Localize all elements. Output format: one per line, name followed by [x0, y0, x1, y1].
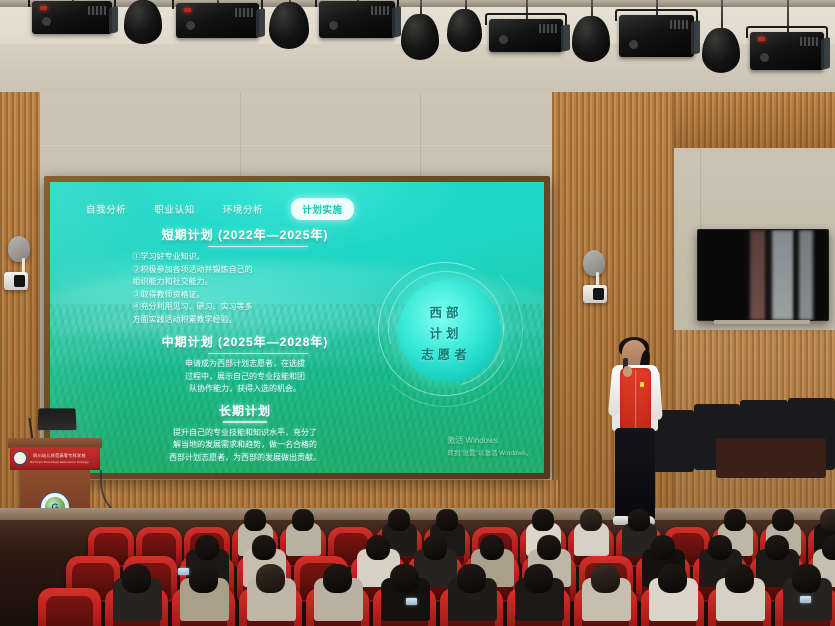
audience-member-head: [792, 564, 821, 593]
audience-member-head: [436, 509, 457, 531]
barn-door: [109, 6, 118, 34]
badge-line-2: 计划: [429, 323, 462, 342]
plan-line: ③取得教师资格证。: [133, 289, 358, 302]
short-term-plan-heading: 短期计划 (2022年—2025年): [162, 226, 329, 246]
audience-member-head: [122, 564, 151, 593]
light-knob: [629, 40, 638, 49]
audience-member-head: [457, 564, 486, 593]
plan-line: ④充分利用见习、研习、实习等多: [133, 301, 358, 314]
audience-member-head: [244, 509, 265, 531]
audience-member-head: [388, 509, 409, 531]
volunteer-badge-graphic: 西部 计划 志愿者: [376, 262, 516, 402]
presenter: [604, 340, 670, 532]
audience-member-head: [822, 535, 835, 560]
plan-line: ②积极参加各项活动并锻炼自己的: [133, 264, 358, 277]
wall-speaker-right: [583, 250, 605, 276]
college-name-cn: 四川幼儿师范高等专科学校: [30, 453, 89, 459]
vest-opening: [635, 370, 637, 428]
plan-line: 过程中，展示自己的专业技能和团: [143, 371, 348, 384]
light-knob: [329, 21, 338, 30]
audience-member-head: [658, 564, 687, 593]
stage-light-par: [572, 16, 610, 62]
light-hanger: [420, 0, 422, 14]
light-vent: [235, 8, 253, 17]
audience-member-head: [323, 564, 352, 593]
light-vent: [88, 6, 106, 15]
audience-member-head: [708, 535, 733, 560]
tv-wall-bracket: [714, 320, 810, 324]
audience-phone-screen: [800, 596, 811, 603]
tab-career-cognition[interactable]: 职业认知: [154, 202, 194, 216]
long-term-plan-heading: 长期计划: [219, 402, 271, 422]
audience-member-head: [195, 535, 220, 560]
barn-door: [561, 24, 570, 52]
light-knob: [499, 35, 508, 44]
stage-light-par: [447, 9, 482, 53]
audience-member-head: [480, 535, 505, 560]
audience-member-head: [725, 564, 754, 593]
audience-member-head: [189, 564, 218, 593]
long-term-plan-body: 提升自己的专业技能和知识水平，充分了 解当地的发展需求和趋势，做一名合格的 西部…: [126, 427, 364, 465]
plan-line: ①学习好专业知识。: [133, 251, 358, 264]
audience-phone-screen: [406, 598, 417, 605]
badge-line-1: 西部: [429, 302, 462, 321]
presentation-screen[interactable]: 自我分析 职业认知 环境分析 计划实施 短期计划 (2022年—2025年) ①…: [50, 182, 544, 473]
security-camera-left: [4, 272, 28, 290]
plan-line: 申请成为西部计划志愿者，在选拔: [143, 358, 348, 371]
wood-panel-upper-right: [674, 92, 835, 148]
wall-seam: [240, 92, 241, 176]
light-led-icon: [40, 6, 47, 10]
stage-light-par: [401, 14, 438, 60]
audience-member-head: [765, 535, 790, 560]
college-logo-icon: [13, 451, 27, 465]
stage-light: [489, 19, 564, 52]
wall-seam: [420, 92, 421, 176]
tv-reflection: [750, 230, 766, 320]
audience-member-head: [820, 509, 835, 531]
badge-line-3: 志愿者: [421, 344, 471, 363]
stage-light-par: [702, 28, 739, 73]
watermark-title: 激活 Windows: [447, 435, 532, 446]
stage-light: [32, 1, 112, 34]
auditorium-seat[interactable]: [38, 588, 101, 626]
audience-member-head: [524, 564, 553, 593]
security-camera-right: [583, 285, 607, 303]
watermark-subtitle: 转到"设置"以激活 Windows。: [447, 447, 532, 457]
camera-lens-icon: [593, 288, 604, 300]
wall-seam: [40, 145, 552, 146]
light-vent: [800, 37, 818, 46]
light-vent: [371, 6, 389, 15]
light-led-icon: [758, 37, 765, 41]
barn-door: [691, 20, 700, 55]
short-term-plan-body: ①学习好专业知识。 ②积极参加各项活动并锻炼自己的 组织能力和社交能力。 ③取得…: [133, 251, 358, 326]
podium-laptop[interactable]: [38, 408, 77, 430]
tab-environment-analysis[interactable]: 环境分析: [223, 202, 263, 216]
audience-member-head: [651, 535, 676, 560]
mid-term-plan-body: 申请成为西部计划志愿者，在选拔 过程中，展示自己的专业技能和团 队协作能力，获得…: [143, 358, 348, 396]
stage-light-par: [124, 0, 162, 44]
vest-badge-icon: [640, 382, 644, 387]
stage-light: [176, 3, 259, 38]
light-knob: [186, 21, 195, 30]
camera-lens-icon: [14, 275, 25, 287]
windows-activation-watermark: 激活 Windows 转到"设置"以激活 Windows。: [447, 435, 532, 457]
audience-member-head: [256, 564, 285, 593]
stage-table: [716, 438, 826, 478]
tv-reflection: [799, 230, 813, 320]
barn-door: [821, 37, 830, 70]
light-vent: [539, 24, 557, 33]
light-knob: [42, 17, 51, 26]
wall-speaker-left: [8, 236, 30, 262]
podium-name-banner: 四川幼儿师范高等专科学校 Sichuan Preschool Education…: [10, 447, 100, 470]
tab-plan-implementation[interactable]: 计划实施: [291, 198, 353, 220]
stage-light-par: [269, 2, 308, 49]
audience-member-head: [772, 509, 793, 531]
light-hanger: [465, 0, 467, 9]
audience-member-head: [366, 535, 391, 560]
audience-member-head: [537, 535, 562, 560]
stage-light: [319, 1, 395, 38]
light-vent: [670, 20, 688, 29]
plan-line: 组织能力和社交能力。: [133, 276, 358, 289]
projection-screen-frame: 自我分析 职业认知 环境分析 计划实施 短期计划 (2022年—2025年) ①…: [44, 176, 550, 479]
plan-line: 提升自己的专业技能和知识水平，充分了: [126, 427, 364, 440]
light-led-icon: [184, 8, 191, 12]
audience-member-head: [532, 509, 553, 531]
plan-line: 解当地的发展需求和趋势，做一名合格的: [126, 439, 364, 452]
stage-light: [619, 15, 694, 57]
audience-member-head: [628, 509, 649, 531]
audience-member-head: [580, 509, 601, 531]
plan-line: 队协作能力，获得入选的机会。: [143, 383, 348, 396]
light-hanger: [721, 0, 723, 28]
audience-member-head: [724, 509, 745, 531]
audience-member-head: [423, 535, 448, 560]
audience-member-head: [390, 564, 419, 593]
plan-line: 西部计划志愿者，为西部的发展做出贡献。: [126, 452, 364, 465]
audience-member-head: [252, 535, 277, 560]
lighting-truss: [0, 0, 835, 7]
plan-line: 方面实践活动积累教学经验。: [133, 314, 358, 327]
barn-door: [256, 8, 265, 38]
slide-nav-tabs: 自我分析 职业认知 环境分析 计划实施: [86, 198, 354, 220]
audience-member-head: [591, 564, 620, 593]
audience-member-head: [292, 509, 313, 531]
stage-light: [750, 32, 824, 70]
tab-self-analysis[interactable]: 自我分析: [86, 202, 126, 216]
presenter-pants: [615, 428, 655, 520]
mid-term-plan-heading: 中期计划 (2025年—2028年): [162, 333, 329, 353]
college-name-en: Sichuan Preschool Education College: [30, 460, 89, 464]
auditorium-scene: 自我分析 职业认知 环境分析 计划实施 短期计划 (2022年—2025年) ①…: [0, 0, 835, 626]
presenter-vest: [620, 368, 651, 431]
barn-door: [392, 6, 401, 38]
light-knob: [760, 53, 769, 62]
audience-phone-screen: [178, 568, 189, 575]
presenter-hand: [623, 366, 632, 377]
tv-reflection: [772, 230, 794, 320]
wall-mounted-tv[interactable]: [697, 229, 829, 321]
light-hanger: [591, 0, 593, 16]
badge-text-group: 西部 计划 志愿者: [376, 262, 516, 402]
